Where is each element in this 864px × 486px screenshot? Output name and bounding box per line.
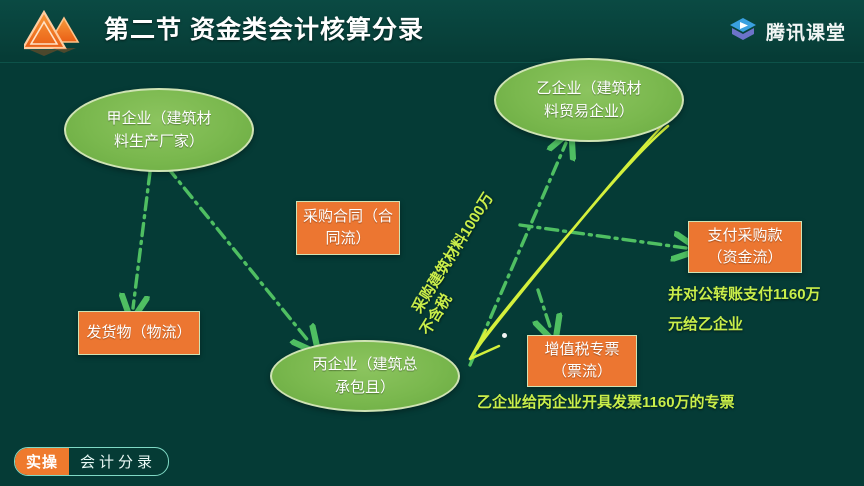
ink-stroke-1 bbox=[478, 126, 668, 346]
arrow-c-to-b bbox=[470, 143, 566, 365]
ink-arrowhead-b bbox=[470, 346, 499, 359]
orange-mountain-triangles-logo bbox=[24, 6, 86, 62]
graduation-cap-play-icon bbox=[728, 14, 758, 49]
box-pay-purchase-label: 支付采购款 （资金流） bbox=[707, 225, 782, 270]
box-purchase-contract[interactable]: 采购合同（合 同流） bbox=[296, 201, 400, 255]
status-badge-label: 会计分录 bbox=[69, 448, 168, 476]
ink-arrowhead-a bbox=[470, 330, 486, 359]
node-company-a[interactable]: 甲企业（建筑材 料生产厂家） bbox=[64, 88, 254, 172]
arrow-a-to-goods bbox=[133, 172, 150, 308]
node-company-c-label: 丙企业（建筑总 承包且） bbox=[312, 353, 417, 400]
note-transfer-line2: 元给乙企业 bbox=[668, 317, 743, 334]
node-company-b-label: 乙企业（建筑材 料贸易企业） bbox=[536, 77, 641, 124]
node-company-a-label: 甲企业（建筑材 料生产厂家） bbox=[106, 107, 211, 154]
arrow-to-vat-invoice bbox=[538, 290, 551, 330]
box-pay-purchase[interactable]: 支付采购款 （资金流） bbox=[688, 221, 802, 273]
box-ship-goods[interactable]: 发货物（物流） bbox=[78, 311, 200, 355]
box-purchase-contract-label: 采购合同（合 同流） bbox=[303, 206, 393, 251]
box-ship-goods-label: 发货物（物流） bbox=[86, 322, 191, 345]
status-badge: 实操 会计分录 bbox=[14, 447, 169, 476]
node-company-c[interactable]: 丙企业（建筑总 承包且） bbox=[270, 340, 460, 412]
page-title: 第二节 资金类会计核算分录 bbox=[104, 10, 424, 46]
brand-name: 腾讯课堂 bbox=[766, 18, 846, 45]
slide-header: 第二节 资金类会计核算分录 腾讯课堂 bbox=[0, 0, 864, 63]
note-transfer-line1: 并对公转账支付1160万 bbox=[668, 287, 821, 304]
node-company-b[interactable]: 乙企业（建筑材 料贸易企业） bbox=[494, 58, 684, 142]
status-badge-tag: 实操 bbox=[15, 448, 69, 476]
arrow-to-payment bbox=[520, 225, 686, 248]
mouse-cursor-dot bbox=[502, 333, 507, 338]
slide-canvas: 第二节 资金类会计核算分录 腾讯课堂 bbox=[0, 0, 864, 486]
note-invoice-bottom: 乙企业给丙企业开具发票1160万的专票 bbox=[477, 395, 735, 412]
box-vat-invoice-label: 增值税专票 （票流） bbox=[544, 339, 619, 384]
ink-stroke-2 bbox=[470, 124, 664, 359]
box-vat-invoice[interactable]: 增值税专票 （票流） bbox=[527, 335, 637, 387]
note-purchase-materials: 采购建筑材料1000万 bbox=[410, 190, 497, 316]
brand-logo[interactable]: 腾讯课堂 bbox=[728, 14, 846, 48]
